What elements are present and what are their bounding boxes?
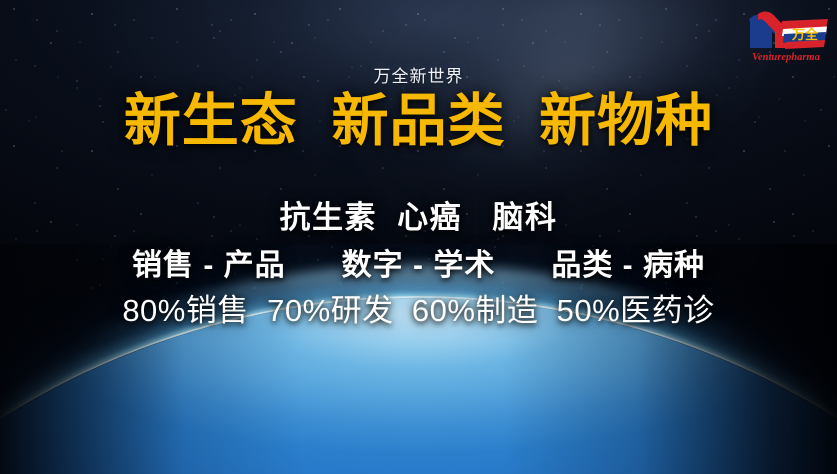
logo-banner: 万全 (780, 19, 828, 49)
presentation-slide: 万全 Venturepharma 万全新世界 新生态 新品类 新物种 抗生素 心… (0, 0, 837, 474)
venturepharma-logo: 万全 Venturepharma (743, 6, 829, 64)
logo-chinese-text: 万全 (791, 27, 819, 42)
slide-subtitle: 万全新世界 (0, 62, 837, 87)
logo-artwork: 万全 Venturepharma (743, 6, 829, 64)
slide-content: 万全新世界 新生态 新品类 新物种 抗生素 心癌 脑科 销售 - 产品 数字 -… (0, 0, 837, 474)
therapeutic-categories-line: 抗生素 心癌 脑科 (0, 192, 837, 237)
logo-wordmark: Venturepharma (752, 52, 820, 63)
strategy-pairs-line: 销售 - 产品 数字 - 学术 品类 - 病种 (0, 240, 837, 284)
percentages-line: 80%销售 70%研发 60%制造 50%医药诊 (0, 285, 837, 330)
slide-headline: 新生态 新品类 新物种 (0, 91, 837, 153)
